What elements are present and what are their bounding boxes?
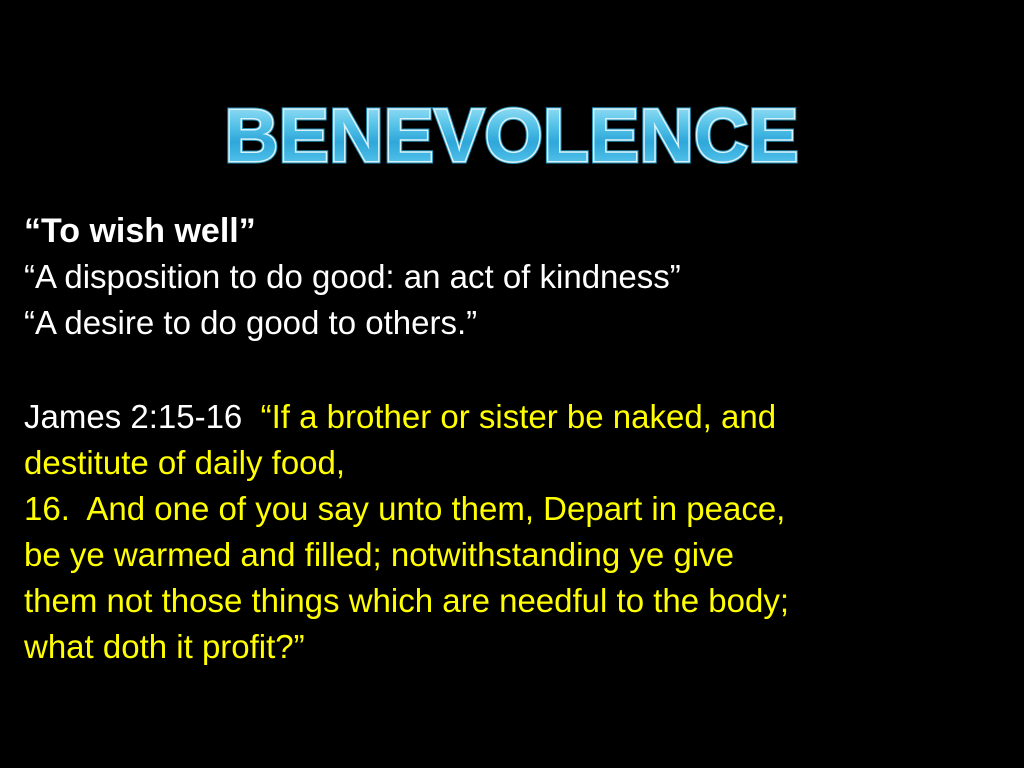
scripture-line-3: 16. And one of you say unto them, Depart…: [24, 486, 994, 532]
presentation-slide: BENEVOLENCE BENEVOLENCE BENEVOLENCE “To …: [0, 0, 1024, 768]
scripture-reference: James 2:15-16: [24, 398, 261, 435]
title-glyph-stack: BENEVOLENCE BENEVOLENCE BENEVOLENCE: [225, 99, 799, 173]
definition-line-2: “A disposition to do good: an act of kin…: [24, 254, 994, 300]
title-fill-layer: BENEVOLENCE: [225, 94, 799, 177]
scripture-line-1: James 2:15-16 “If a brother or sister be…: [24, 394, 994, 440]
definition-line-1: “To wish well”: [24, 208, 994, 254]
scripture-line-4: be ye warmed and filled; notwithstanding…: [24, 532, 994, 578]
slide-body: “To wish well” “A disposition to do good…: [24, 208, 994, 670]
scripture-line-5: them not those things which are needful …: [24, 578, 994, 624]
scripture-line-6: what doth it profit?”: [24, 624, 994, 670]
scripture-line-2: destitute of daily food,: [24, 440, 994, 486]
paragraph-spacer: [24, 346, 994, 394]
definition-line-3: “A desire to do good to others.”: [24, 300, 994, 346]
slide-title: BENEVOLENCE BENEVOLENCE BENEVOLENCE: [0, 86, 1024, 186]
scripture-quote-opening: “If a brother or sister be naked, and: [261, 398, 776, 435]
